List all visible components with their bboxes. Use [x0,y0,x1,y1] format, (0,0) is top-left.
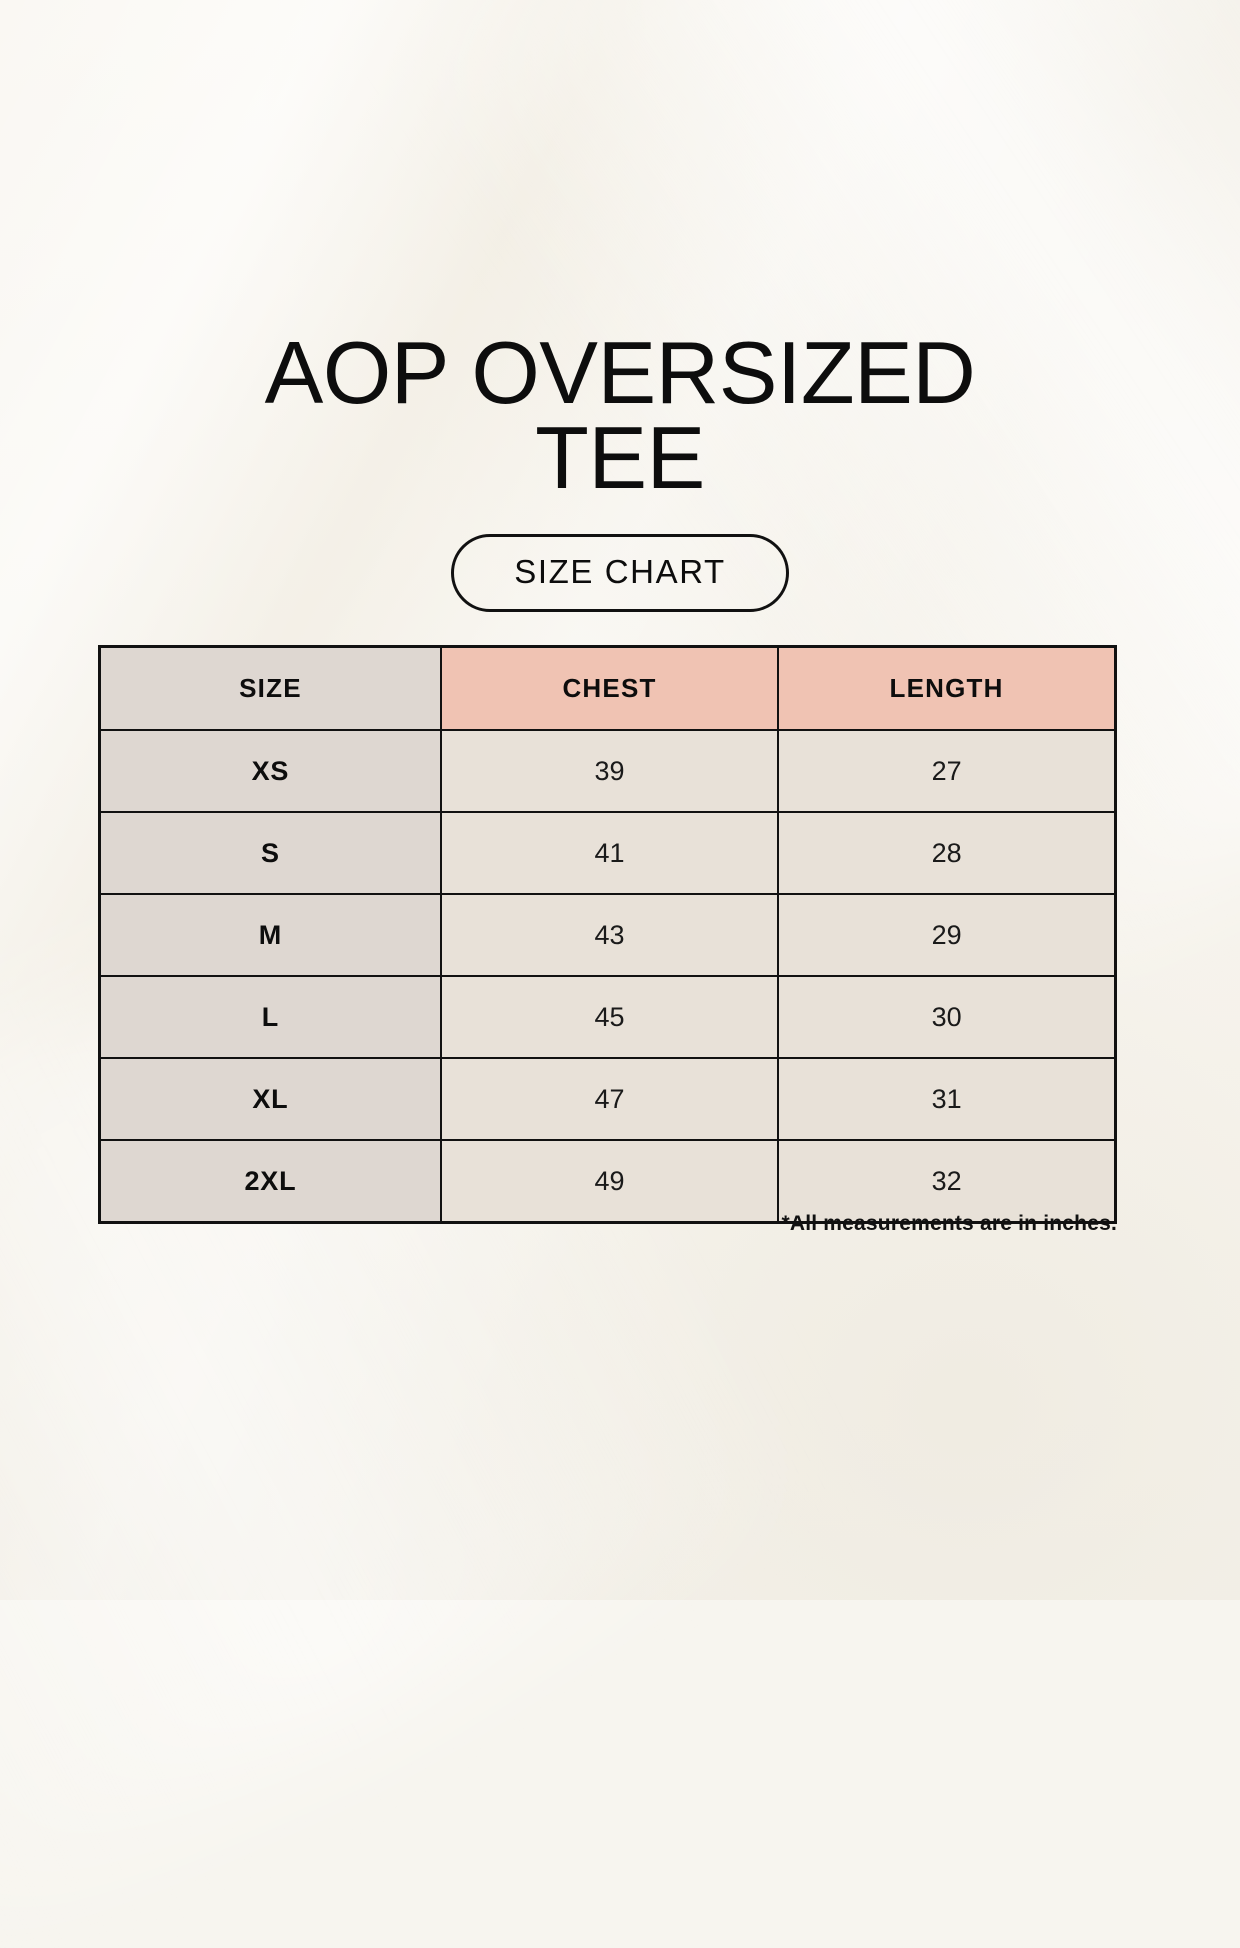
subtitle-pill-wrap: SIZE CHART [0,534,1240,612]
cell-chest: 47 [441,1058,778,1140]
size-chart-pill-label: SIZE CHART [514,553,726,590]
table-row: XL 47 31 [100,1058,1116,1140]
cell-chest: 39 [441,730,778,812]
cell-size: M [100,894,441,976]
cell-size: XS [100,730,441,812]
cell-chest: 41 [441,812,778,894]
cell-size: XL [100,1058,441,1140]
table-row: M 43 29 [100,894,1116,976]
cell-length: 32 [778,1140,1115,1223]
column-header-size: SIZE [100,647,441,731]
size-table-wrap: SIZE CHEST LENGTH XS 39 27 S 41 28 M [98,645,1117,1224]
table-row: S 41 28 [100,812,1116,894]
cell-length: 31 [778,1058,1115,1140]
cell-size: L [100,976,441,1058]
title-block: AOP OVERSIZED TEE [0,330,1240,501]
column-header-chest: CHEST [441,647,778,731]
cell-chest: 45 [441,976,778,1058]
measurements-footnote: *All measurements are in inches. [98,1212,1117,1236]
size-chart-pill: SIZE CHART [451,534,789,612]
cell-chest: 43 [441,894,778,976]
table-row: 2XL 49 32 [100,1140,1116,1223]
cell-length: 30 [778,976,1115,1058]
page-title: AOP OVERSIZED TEE [0,330,1240,501]
size-table-head: SIZE CHEST LENGTH [100,647,1116,731]
column-header-length: LENGTH [778,647,1115,731]
size-table: SIZE CHEST LENGTH XS 39 27 S 41 28 M [98,645,1117,1224]
table-header-row: SIZE CHEST LENGTH [100,647,1116,731]
cell-chest: 49 [441,1140,778,1223]
cell-length: 27 [778,730,1115,812]
cell-length: 29 [778,894,1115,976]
cell-size: 2XL [100,1140,441,1223]
size-chart-page: AOP OVERSIZED TEE SIZE CHART SIZE CHEST … [0,0,1240,1600]
size-table-body: XS 39 27 S 41 28 M 43 29 L 45 30 [100,730,1116,1223]
table-row: L 45 30 [100,976,1116,1058]
table-row: XS 39 27 [100,730,1116,812]
cell-size: S [100,812,441,894]
cell-length: 28 [778,812,1115,894]
